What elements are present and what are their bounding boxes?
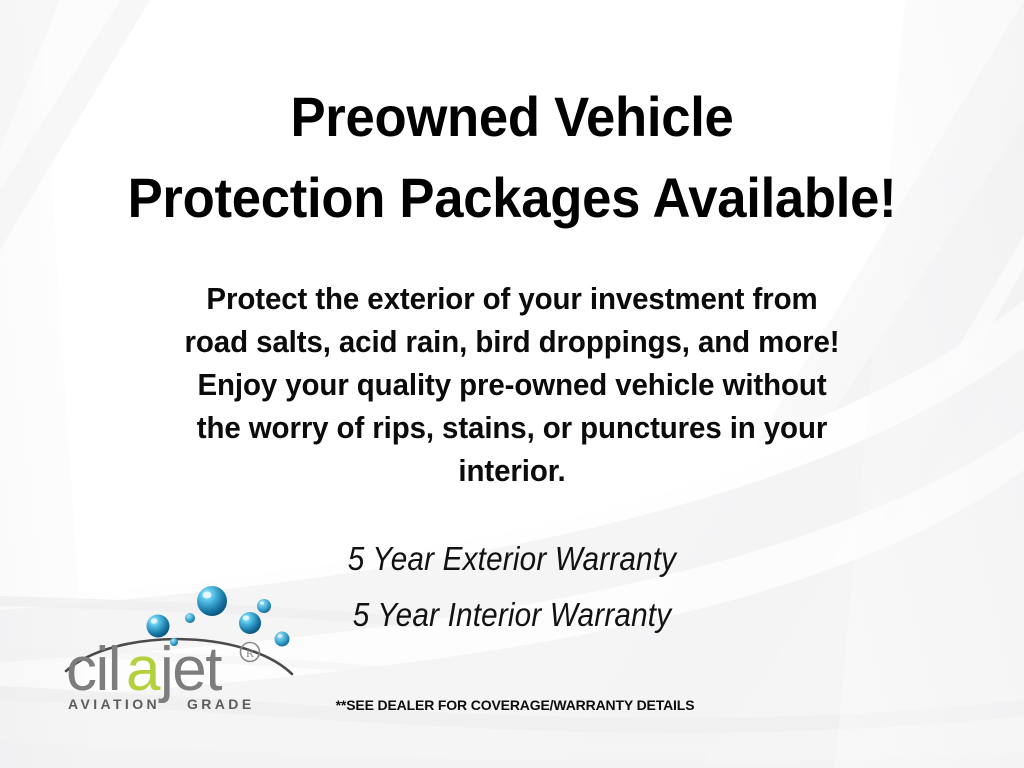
body-line-5: interior.: [26, 449, 999, 492]
bubble: [185, 613, 195, 623]
body-line-1: Protect the exterior of your investment …: [26, 277, 999, 320]
disclaimer-footnote: **SEE DEALER FOR COVERAGE/WARRANTY DETAI…: [290, 697, 740, 713]
slide-headline: Preowned Vehicle Protection Packages Ava…: [31, 76, 994, 238]
bubble: [275, 632, 290, 647]
body-line-4: the worry of rips, stains, or punctures …: [26, 406, 999, 449]
bubble: [257, 599, 271, 613]
slide-canvas: Preowned Vehicle Protection Packages Ava…: [0, 0, 1024, 768]
logo-wordmark-accent: a: [126, 635, 161, 704]
headline-line-1: Preowned Vehicle: [31, 76, 994, 157]
bubble: [239, 612, 261, 634]
slide-body-copy: Protect the exterior of your investment …: [26, 277, 999, 492]
cilajet-logo: cil a jet R AVIATION GRADE: [60, 578, 296, 714]
svg-text:R: R: [246, 646, 254, 660]
headline-line-2: Protection Packages Available!: [31, 157, 994, 238]
bubble: [197, 586, 227, 616]
logo-wordmark-prefix: cil: [66, 635, 120, 704]
body-line-3: Enjoy your quality pre-owned vehicle wit…: [26, 363, 999, 406]
logo-wordmark-suffix: jet: [158, 635, 222, 704]
logo-tagline-right: GRADE: [187, 696, 255, 712]
logo-tagline-left: AVIATION: [68, 696, 160, 712]
body-line-2: road salts, acid rain, bird droppings, a…: [26, 320, 999, 363]
